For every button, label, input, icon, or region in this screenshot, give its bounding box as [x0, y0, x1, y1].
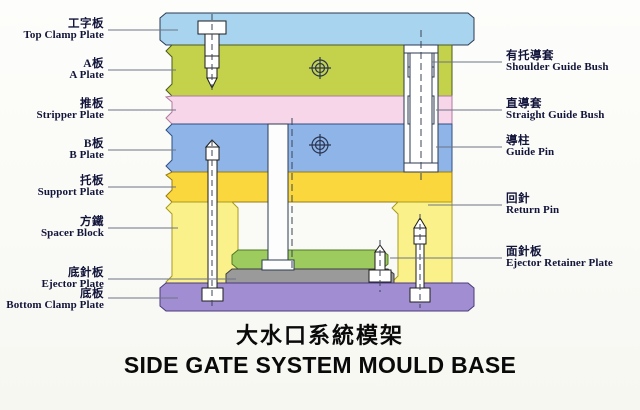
label-en: Shoulder Guide Bush — [506, 62, 609, 74]
label-en: Return Pin — [506, 205, 559, 217]
support-pillar-foot — [262, 260, 294, 270]
plate-ejector-retainer-plate — [232, 250, 388, 269]
label-straight-guide-bush: 直導套 Straight Guide Bush — [506, 98, 604, 122]
label-return-pin: 回針 Return Pin — [506, 193, 559, 217]
label-guide-pin: 導柱 Guide Pin — [506, 135, 554, 159]
label-support-plate: 托板 Support Plate — [0, 175, 104, 199]
label-top-clamp-plate: 工字板 Top Clamp Plate — [0, 18, 104, 42]
title-chinese: 大水口系統模架 — [0, 318, 640, 350]
label-en: Support Plate — [0, 187, 104, 199]
label-a-plate: A板 A Plate — [0, 58, 104, 82]
label-en: B Plate — [0, 150, 104, 162]
label-en: Bottom Clamp Plate — [0, 300, 104, 312]
label-ejector-retainer-plate: 面針板 Ejector Retainer Plate — [506, 246, 613, 270]
label-b-plate: B板 B Plate — [0, 138, 104, 162]
label-en: A Plate — [0, 70, 104, 82]
label-en: Straight Guide Bush — [506, 110, 604, 122]
label-en: Ejector Retainer Plate — [506, 258, 613, 270]
title-english: SIDE GATE SYSTEM MOULD BASE — [0, 352, 640, 379]
label-spacer-block: 方鐵 Spacer Block — [0, 216, 104, 240]
label-bottom-clamp-plate: 底板 Bottom Clamp Plate — [0, 288, 104, 312]
label-en: Spacer Block — [0, 228, 104, 240]
label-shoulder-guide-bush: 有托導套 Shoulder Guide Bush — [506, 50, 609, 74]
diagram-canvas: 工字板 Top Clamp Plate A板 A Plate 推板 Stripp… — [0, 0, 640, 410]
label-en: Stripper Plate — [0, 110, 104, 122]
label-stripper-plate: 推板 Stripper Plate — [0, 98, 104, 122]
support-pillar — [268, 124, 288, 260]
label-en: Top Clamp Plate — [0, 30, 104, 42]
label-en: Guide Pin — [506, 147, 554, 159]
diagram-title: 大水口系統模架 SIDE GATE SYSTEM MOULD BASE — [0, 318, 640, 379]
